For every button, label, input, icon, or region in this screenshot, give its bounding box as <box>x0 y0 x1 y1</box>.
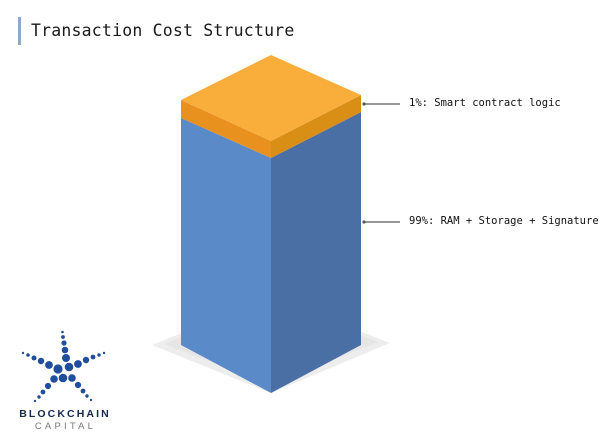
starfish-dots-icon <box>8 326 120 410</box>
annotation-label-ram-storage-signature: 99%: RAM + Storage + Signature <box>409 216 599 227</box>
segment-body-right-face <box>271 112 361 393</box>
logo-secondary-text: CAPITAL <box>8 421 120 434</box>
leader-dot-top <box>362 102 365 105</box>
segment-body-left-face <box>181 118 271 393</box>
annotation-label-smart-contract: 1%: Smart contract logic <box>409 98 561 109</box>
leader-dot-bottom <box>362 220 365 223</box>
brand-logo: BLOCKCHAIN CAPITAL <box>8 326 120 438</box>
slide-canvas: Transaction Cost Structure 1%: Smart con… <box>0 0 600 445</box>
logo-wordmark: BLOCKCHAIN CAPITAL <box>8 408 120 434</box>
logo-primary-text: BLOCKCHAIN <box>8 408 120 421</box>
